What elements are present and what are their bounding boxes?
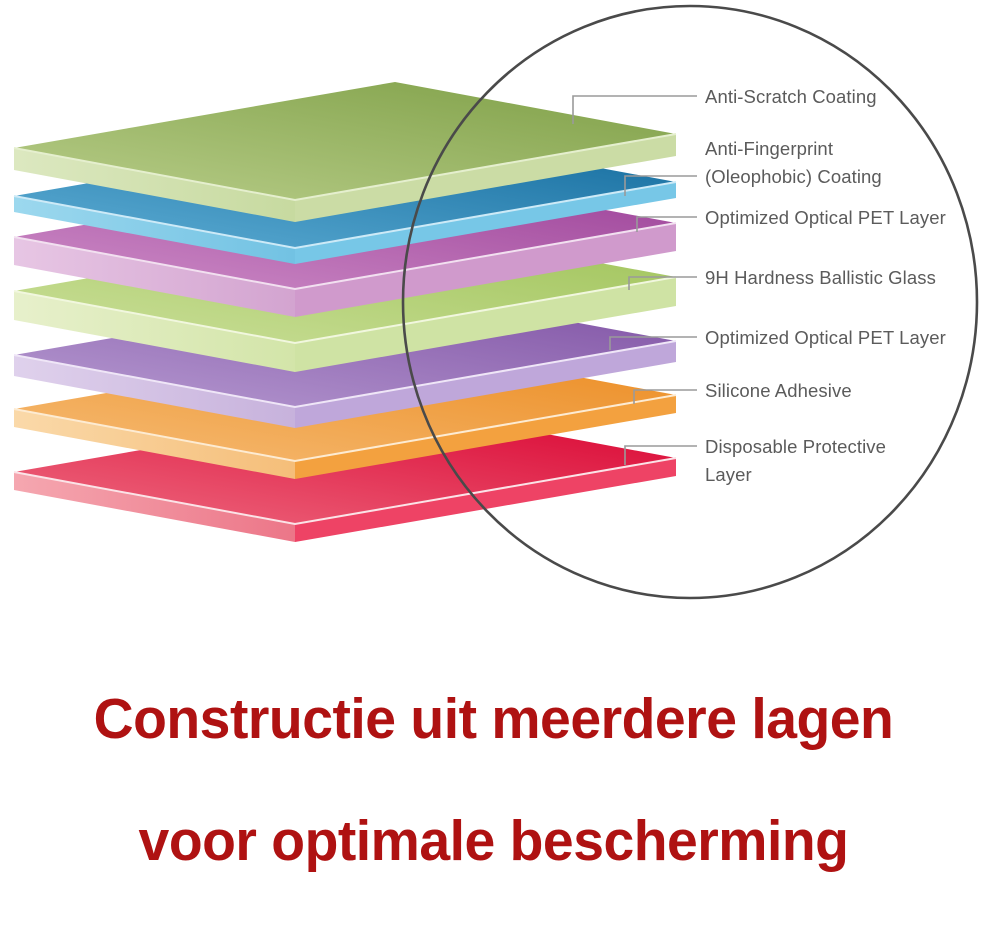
callout-label-optical-pet-lower: Optimized Optical PET Layer <box>705 327 946 348</box>
callout-label-optical-pet-upper: Optimized Optical PET Layer <box>705 207 946 228</box>
callout-label-disposable-protective-layer: Disposable Protective <box>705 436 886 457</box>
callout-label-anti-fingerprint-coating: Anti-Fingerprint <box>705 138 833 159</box>
headline: Constructie uit meerdere lagen voor opti… <box>15 628 972 933</box>
callout-label-silicone-adhesive: Silicone Adhesive <box>705 380 852 401</box>
headline-line-2: voor optimale bescherming <box>15 811 972 872</box>
callout-label-anti-fingerprint-coating-line2: (Oleophobic) Coating <box>705 166 882 187</box>
callout-label-ballistic-glass: 9H Hardness Ballistic Glass <box>705 267 936 288</box>
headline-line-1: Constructie uit meerdere lagen <box>15 689 972 750</box>
callout-label-anti-scratch-coating: Anti-Scratch Coating <box>705 86 877 107</box>
callout-label-disposable-protective-layer-line2: Layer <box>705 464 752 485</box>
